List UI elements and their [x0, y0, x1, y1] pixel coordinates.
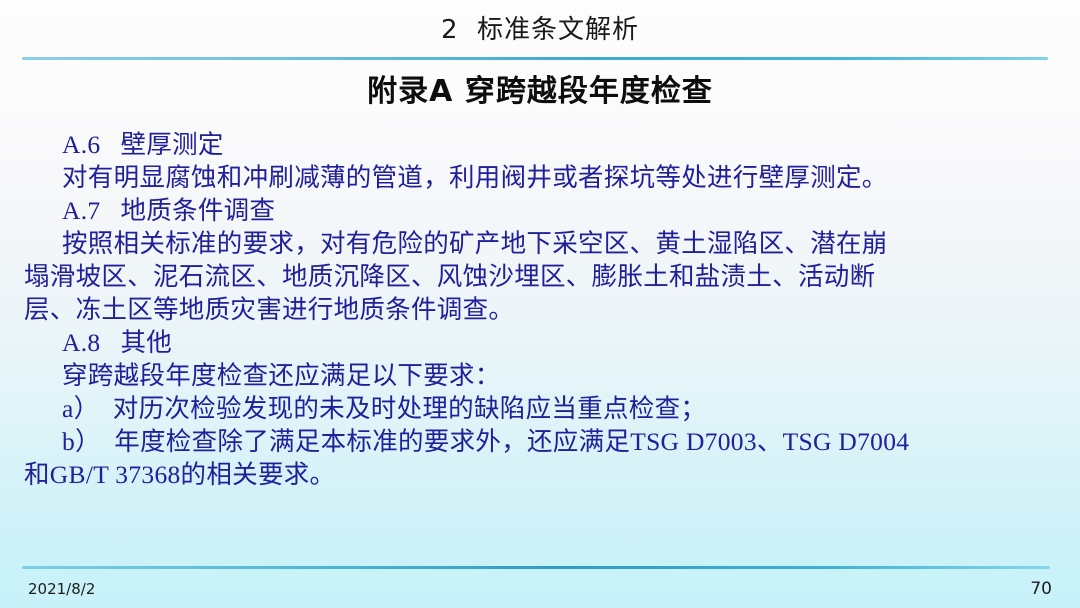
footer-page-number: 70: [1030, 579, 1052, 599]
body-line: 层、冻土区等地质灾害进行地质条件调查。: [24, 293, 1036, 326]
body-line: a） 对历次检验发现的未及时处理的缺陷应当重点检查；: [24, 392, 1036, 425]
body-line: 对有明显腐蚀和冲刷减薄的管道，利用阀井或者探坑等处进行壁厚测定。: [24, 161, 1036, 194]
footer-divider: [22, 566, 1050, 569]
body-line: A.8 其他: [24, 326, 1036, 359]
body-line: 塌滑坡区、泥石流区、地质沉降区、风蚀沙埋区、膨胀土和盐渍土、活动断: [24, 260, 1036, 293]
body-line: A.7 地质条件调查: [24, 194, 1036, 227]
body-line: A.6 壁厚测定: [24, 128, 1036, 161]
body-content: A.6 壁厚测定 对有明显腐蚀和冲刷减薄的管道，利用阀井或者探坑等处进行壁厚测定…: [24, 128, 1036, 491]
body-line: 和GB/T 37368的相关要求。: [24, 458, 1036, 491]
body-line: 按照相关标准的要求，对有危险的矿产地下采空区、黄土湿陷区、潜在崩: [24, 227, 1036, 260]
footer-date: 2021/8/2: [28, 580, 95, 598]
page-subtitle: 附录A 穿跨越段年度检查: [0, 66, 1080, 110]
title-divider: [22, 57, 1048, 60]
slide-canvas: 2 标准条文解析 附录A 穿跨越段年度检查 A.6 壁厚测定 对有明显腐蚀和冲刷…: [0, 0, 1080, 608]
body-line: 穿跨越段年度检查还应满足以下要求：: [24, 359, 1036, 392]
body-line: b） 年度检查除了满足本标准的要求外，还应满足TSG D7003、TSG D70…: [24, 425, 1036, 458]
page-title: 2 标准条文解析: [0, 9, 1080, 46]
